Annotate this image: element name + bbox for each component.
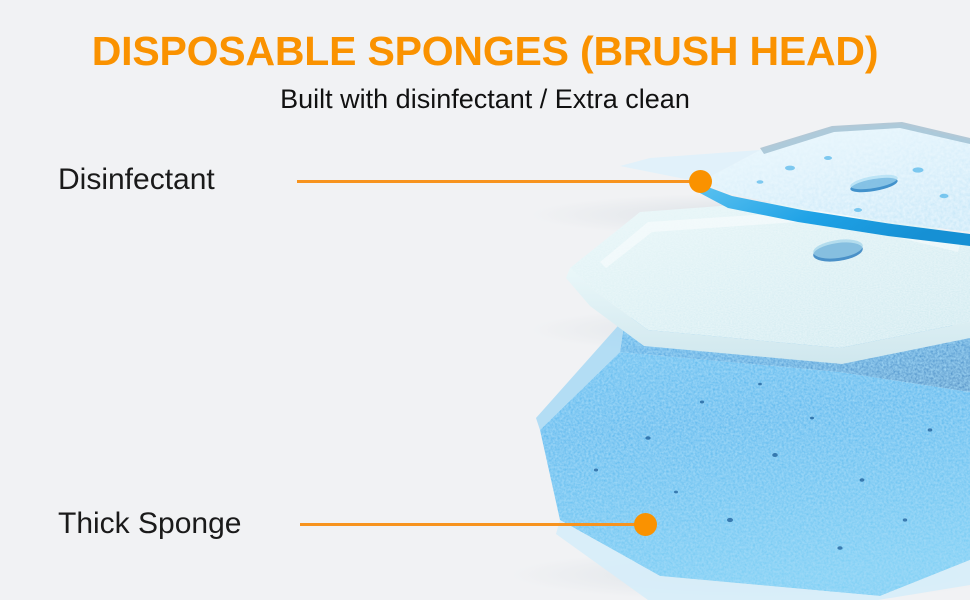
shadow-top <box>530 193 970 237</box>
callout-leader-line-thick-sponge <box>300 523 648 526</box>
callout-leader-line-disinfectant <box>297 180 702 183</box>
layer-fiber-sheet <box>566 198 970 364</box>
shadow-mid <box>530 306 970 354</box>
top-sheet-hole <box>849 175 898 195</box>
layer-thick-sponge <box>536 300 970 600</box>
sheet-hole <box>812 240 864 265</box>
callout-label-thick-sponge: Thick Sponge <box>58 507 241 541</box>
page-subtitle: Built with disinfectant / Extra clean <box>0 83 970 115</box>
callout-dot-thick-sponge <box>634 513 657 536</box>
layer-disinfectant-sheet <box>620 122 970 246</box>
product-infographic: DISPOSABLE SPONGES (BRUSH HEAD) Built wi… <box>0 0 970 600</box>
callout-dot-disinfectant <box>689 170 712 193</box>
page-title: DISPOSABLE SPONGES (BRUSH HEAD) <box>0 28 970 74</box>
shadow-bottom <box>510 549 970 600</box>
foam-bubbles <box>757 156 949 212</box>
callout-label-disinfectant: Disinfectant <box>58 163 215 197</box>
